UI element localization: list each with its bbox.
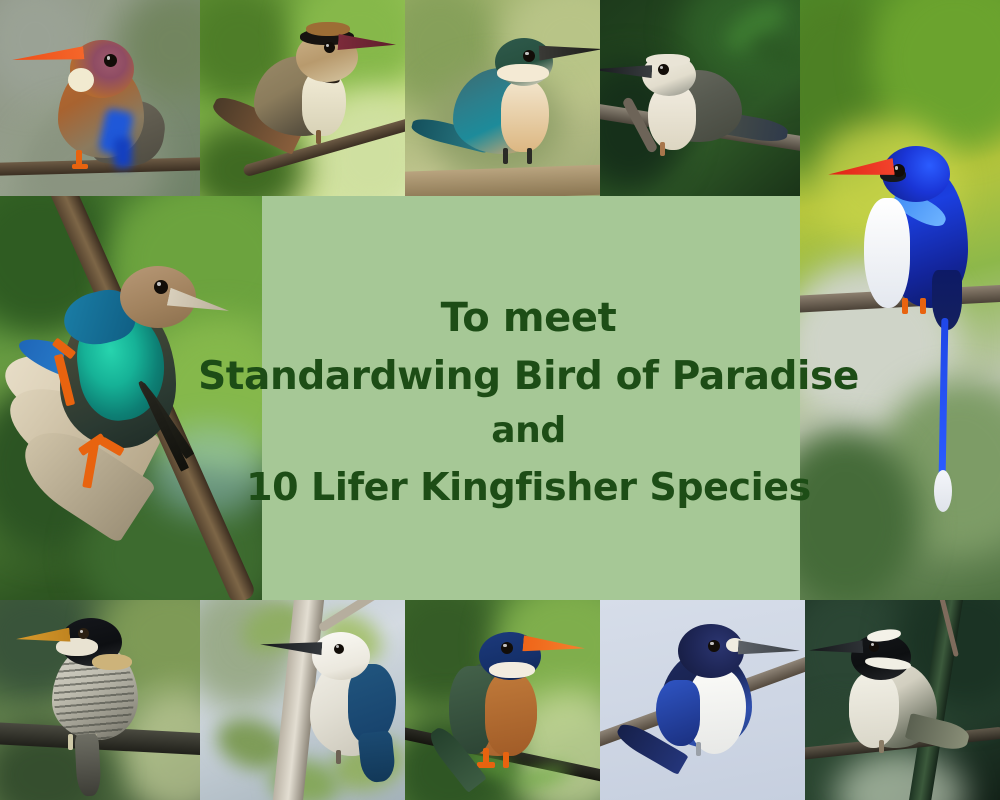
photo-tile-sacred-kingfisher bbox=[405, 0, 600, 196]
photo-tile-green-backed-kingfisher bbox=[200, 0, 405, 196]
photo-tile-white-headed-kingfisher bbox=[200, 600, 405, 800]
title-panel: To meet Standardwing Bird of Paradise an… bbox=[262, 205, 795, 600]
photo-tile-sombre-kingfisher bbox=[805, 600, 1000, 800]
bird-photo-collage: To meet Standardwing Bird of Paradise an… bbox=[0, 0, 1000, 800]
title-line-3: and bbox=[491, 412, 566, 451]
photo-tile-green-backed-kingfisher-perched bbox=[405, 600, 600, 800]
title-line-1: To meet bbox=[441, 297, 617, 340]
photo-tile-great-billed-kingfisher bbox=[600, 0, 800, 196]
photo-tile-scaly-breasted-kingfisher bbox=[0, 600, 200, 800]
photo-tile-common-paradise-kingfisher bbox=[800, 0, 1000, 600]
title-line-2: Standardwing Bird of Paradise bbox=[198, 356, 859, 398]
title-line-4: 10 Lifer Kingfisher Species bbox=[246, 467, 811, 508]
photo-tile-sulawesi-dwarf-kingfisher bbox=[0, 0, 200, 196]
photo-tile-blue-and-white-kingfisher bbox=[600, 600, 805, 800]
